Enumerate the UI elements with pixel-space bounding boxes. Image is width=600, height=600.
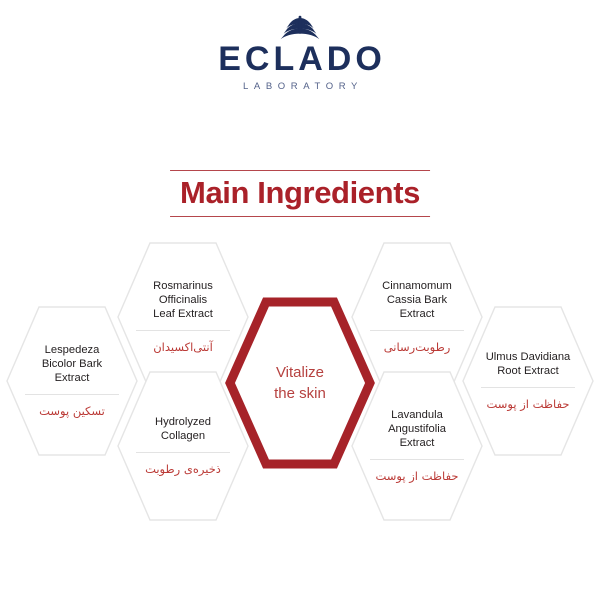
- ingredient-name: Lespedeza Bicolor Bark Extract: [22, 343, 122, 386]
- ingredient-benefit-fa: تسکین پوست: [20, 404, 124, 419]
- ingredient-content: Lavandula Angustifolia Extract حفاظت از …: [369, 371, 465, 521]
- center-label-line: Vitalize: [274, 362, 326, 383]
- brand-logo: ECLADO LABORATORY: [0, 14, 600, 92]
- ingredient-name-line: Hydrolyzed: [133, 415, 233, 429]
- divider: [25, 394, 119, 395]
- page-title: Main Ingredients: [180, 175, 420, 211]
- ingredient-benefit-fa: ذخیره‌ی رطوبت: [131, 462, 235, 477]
- ingredients-honeycomb: Lespedeza Bicolor Bark Extract تسکین پوس…: [0, 242, 600, 532]
- ingredient-name-line: Bicolor Bark: [22, 357, 122, 371]
- ingredient-name: Lavandula Angustifolia Extract: [367, 408, 467, 451]
- open-book-icon: [274, 14, 326, 40]
- ingredient-name: Ulmus Davidiana Root Extract: [478, 350, 578, 378]
- ingredient-name: Cinnamomum Cassia Bark Extract: [367, 279, 467, 322]
- ingredient-name-line: Officinalis: [133, 293, 233, 307]
- ingredient-name-line: Lavandula: [367, 408, 467, 422]
- title-rule-container: Main Ingredients: [170, 170, 430, 217]
- ingredient-name-line: Angustifolia: [367, 422, 467, 436]
- center-label-line: the skin: [274, 383, 326, 404]
- divider: [136, 330, 230, 331]
- ingredient-benefit-fa: آنتی‌اکسیدان: [131, 340, 235, 355]
- ingredient-name-line: Cassia Bark: [367, 293, 467, 307]
- ingredient-content: Rosmarinus Officinalis Leaf Extract آنتی…: [135, 242, 231, 392]
- divider: [481, 387, 575, 388]
- divider: [370, 459, 464, 460]
- brand-tagline: LABORATORY: [0, 81, 600, 92]
- ingredient-name: Rosmarinus Officinalis Leaf Extract: [133, 279, 233, 322]
- ingredient-name-line: Collagen: [133, 429, 233, 443]
- center-label: Vitalize the skin: [225, 297, 375, 469]
- ingredient-content: Ulmus Davidiana Root Extract حفاظت از پو…: [480, 306, 576, 456]
- ingredient-benefit-fa: حفاظت از پوست: [365, 469, 469, 484]
- ingredient-name-line: Rosmarinus: [133, 279, 233, 293]
- center-hexagon[interactable]: Vitalize the skin: [225, 297, 375, 469]
- ingredient-content: Cinnamomum Cassia Bark Extract رطوبت‌رسا…: [369, 242, 465, 392]
- ingredient-benefit-fa: حفاظت از پوست: [476, 397, 580, 412]
- ingredient-name-line: Leaf Extract: [133, 307, 233, 321]
- ingredient-name-line: Root Extract: [478, 364, 578, 378]
- ingredient-name-line: Cinnamomum: [367, 279, 467, 293]
- ingredient-name-line: Extract: [367, 307, 467, 321]
- ingredient-content: Lespedeza Bicolor Bark Extract تسکین پوس…: [24, 306, 120, 456]
- ingredient-name-line: Extract: [22, 371, 122, 385]
- ingredient-name-line: Ulmus Davidiana: [478, 350, 578, 364]
- ingredient-content: Hydrolyzed Collagen ذخیره‌ی رطوبت: [135, 371, 231, 521]
- ingredient-benefit-fa: رطوبت‌رسانی: [365, 340, 469, 355]
- divider: [370, 330, 464, 331]
- ingredient-name: Hydrolyzed Collagen: [133, 415, 233, 443]
- ingredient-name-line: Lespedeza: [22, 343, 122, 357]
- ingredient-name-line: Extract: [367, 436, 467, 450]
- divider: [136, 452, 230, 453]
- ingredient-hex-ulmus[interactable]: Ulmus Davidiana Root Extract حفاظت از پو…: [462, 306, 594, 456]
- brand-wordmark: ECLADO: [0, 42, 600, 78]
